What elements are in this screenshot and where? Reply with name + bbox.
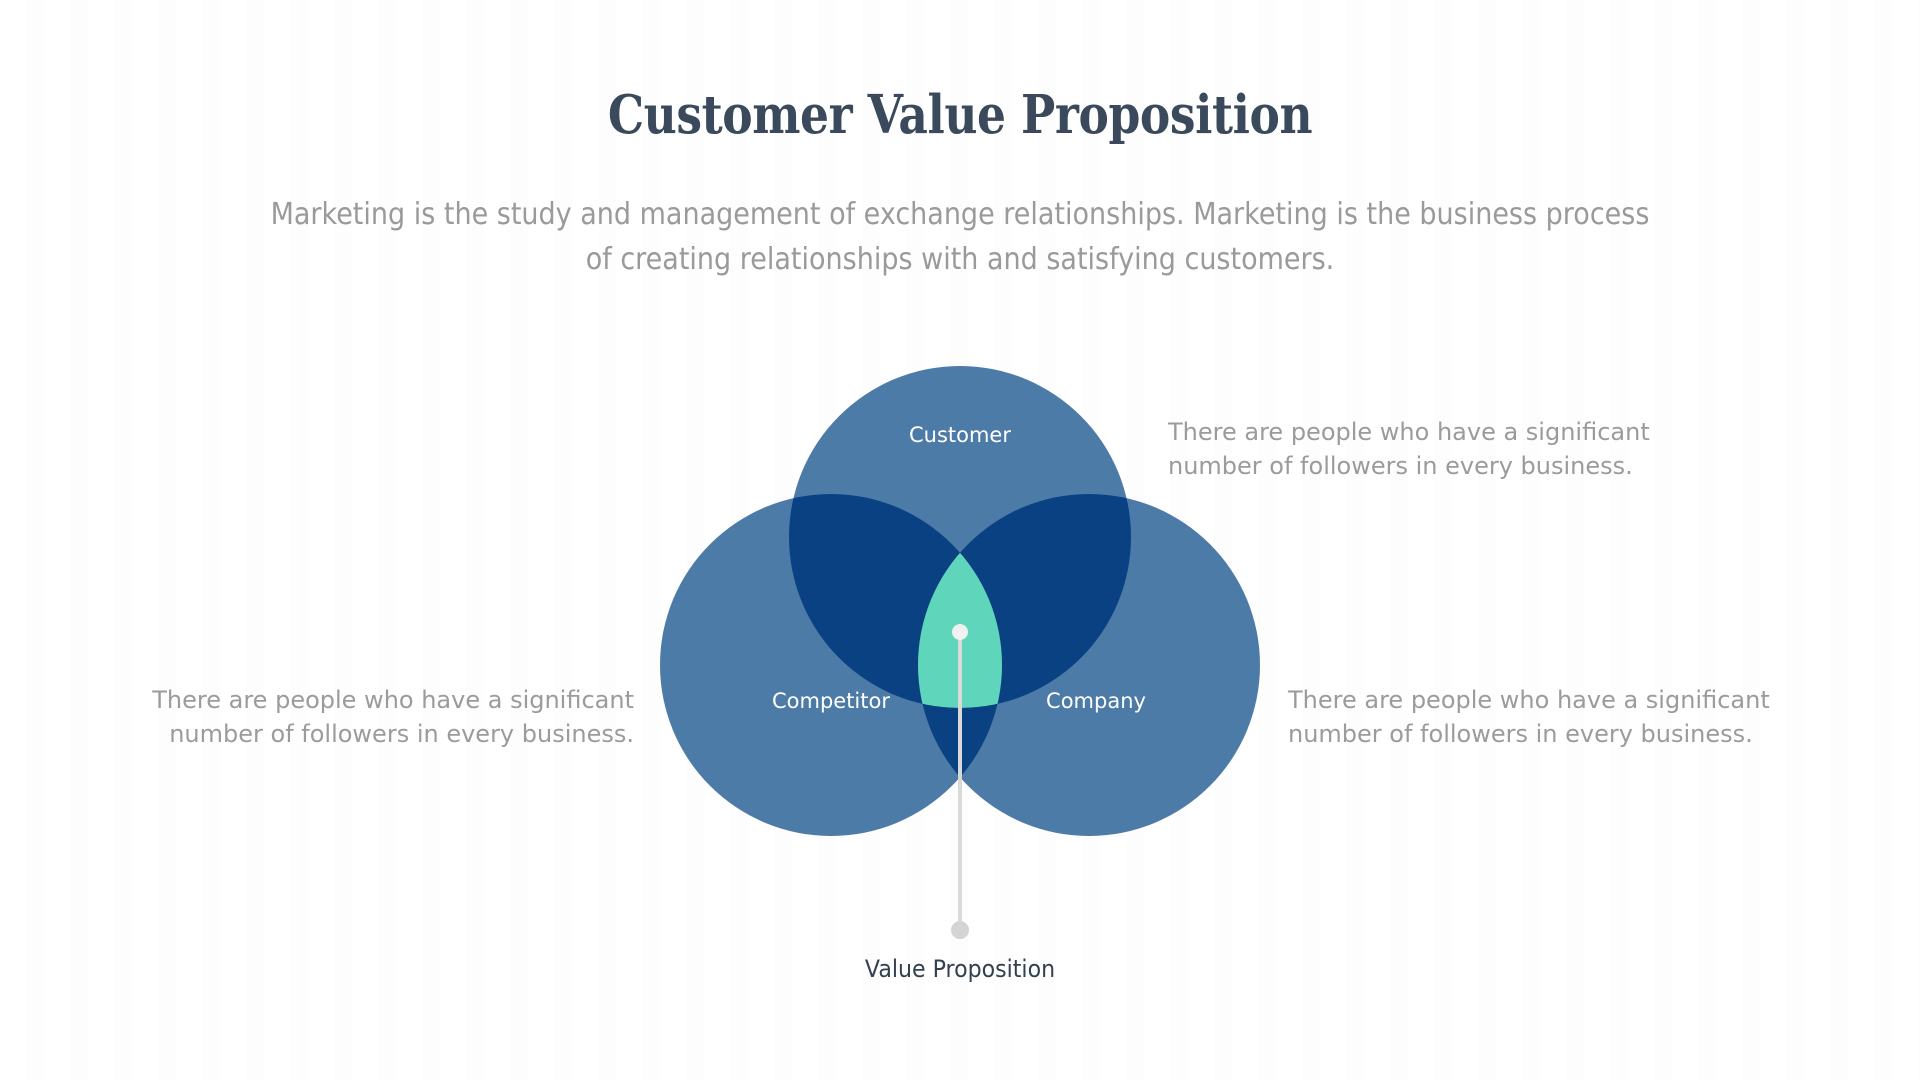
page-subtitle-line-1: Marketing is the study and management of… — [258, 192, 1662, 237]
page-title: Customer Value Proposition — [134, 84, 1785, 146]
description-customer: There are people who have a significant … — [1168, 415, 1728, 483]
venn-label-company: Company — [1046, 689, 1146, 713]
description-company: There are people who have a significant … — [1288, 683, 1848, 751]
connector-dot-top — [952, 624, 968, 640]
value-proposition-label: Value Proposition — [865, 955, 1055, 983]
page-subtitle: Marketing is the study and management of… — [180, 192, 1740, 282]
slide-canvas: Customer Value Proposition Marketing is … — [0, 0, 1920, 1080]
page-subtitle-line-2: of creating relationships with and satis… — [258, 237, 1662, 282]
venn-label-competitor: Competitor — [772, 689, 890, 713]
connector-dot-bottom — [951, 921, 969, 939]
description-competitor: There are people who have a significant … — [74, 683, 634, 751]
venn-label-customer: Customer — [909, 423, 1011, 447]
